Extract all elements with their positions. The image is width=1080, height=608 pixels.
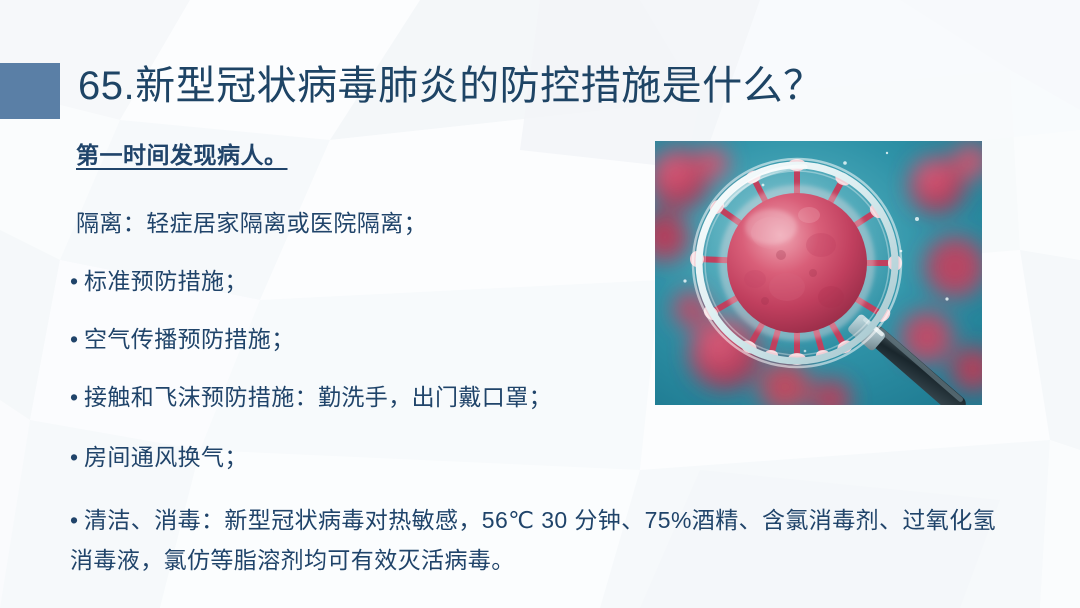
virus-body [727, 193, 867, 333]
page-title: 65.新型冠状病毒肺炎的防控措施是什么？ [78, 58, 824, 114]
bullet-item-disinfection: •清洁、消毒：新型冠状病毒对热敏感，56℃ 30 分钟、75%酒精、含氯消毒剂、… [70, 500, 1005, 580]
bullet-item-ventilation: •房间通风换气； [70, 440, 1000, 474]
bullet-marker-icon: • [70, 264, 84, 298]
bullet-item-label: 清洁、消毒：新型冠状病毒对热敏感，56℃ 30 分钟、75%酒精、含氯消毒剂、过… [70, 507, 996, 573]
bullet-marker-icon: • [70, 500, 84, 540]
bullet-item-label: 房间通风换气； [84, 444, 248, 470]
bullet-item-label: 接触和飞沫预防措施：勤洗手，出门戴口罩； [84, 384, 552, 410]
virus-magnifier-illustration [655, 141, 982, 405]
bullet-item-label: 空气传播预防措施； [84, 326, 295, 352]
bullet-marker-icon: • [70, 322, 84, 356]
title-accent-bar [0, 63, 60, 119]
bullet-marker-icon: • [70, 380, 84, 414]
virus-magnifier-photo [655, 141, 982, 405]
slide: 65.新型冠状病毒肺炎的防控措施是什么？ 第一时间发现病人。 隔离：轻症居家隔离… [0, 0, 1080, 608]
bullet-item-label: 标准预防措施； [84, 268, 248, 294]
bullet-marker-icon: • [70, 440, 84, 474]
